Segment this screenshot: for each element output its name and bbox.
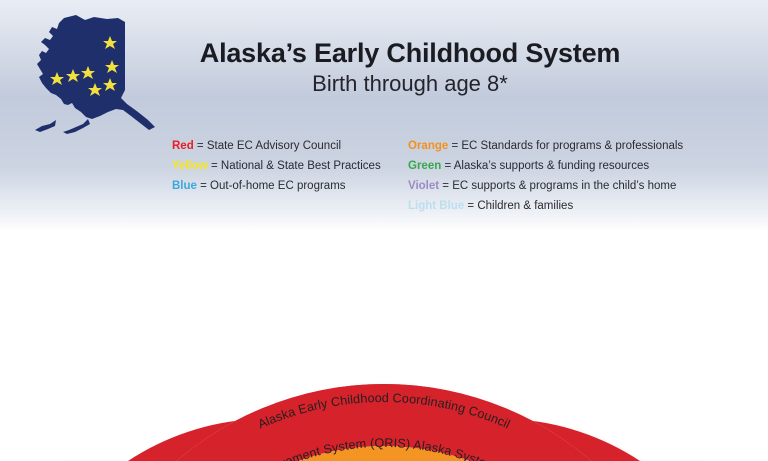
- legend-item-orange: Orange = EC Standards for programs & pro…: [408, 136, 738, 156]
- legend-key-light-blue: Light Blue: [408, 200, 464, 212]
- legend-desc-violet: = EC supports & programs in the child’s …: [439, 180, 676, 192]
- legend-item-red: Red = State EC Advisory Council: [172, 136, 407, 156]
- legend-item-blue: Blue = Out-of-home EC programs: [172, 176, 407, 196]
- legend-key-violet: Violet: [408, 180, 439, 192]
- legend-key-red: Red: [172, 140, 194, 152]
- legend-item-yellow: Yellow = National & State Best Practices: [172, 156, 407, 176]
- alaska-state-outline-with-big-dipper-stars-icon: [28, 12, 164, 134]
- alaska-southeast-panhandle-shape: [63, 119, 90, 134]
- legend-key-orange: Orange: [408, 140, 448, 152]
- legend-desc-blue: = Out-of-home EC programs: [197, 180, 346, 192]
- page-title: Alaska’s Early Childhood System Birth th…: [150, 38, 670, 98]
- legend-key-blue: Blue: [172, 180, 197, 192]
- legend-key-green: Green: [408, 160, 441, 172]
- legend-column-right: Orange = EC Standards for programs & pro…: [408, 136, 738, 216]
- legend-desc-yellow: = National & State Best Practices: [208, 160, 381, 172]
- concentric-arc-diagram: Alaska Early Childhood Coordinating Coun…: [0, 232, 768, 461]
- title-main: Alaska’s Early Childhood System: [150, 38, 670, 68]
- legend-desc-green: = Alaska’s supports & funding resources: [441, 160, 649, 172]
- legend-desc-red: = State EC Advisory Council: [194, 140, 341, 152]
- legend: Red = State EC Advisory Council Yellow =…: [0, 136, 768, 226]
- legend-item-light-blue: Light Blue = Children & families: [408, 196, 738, 216]
- legend-column-left: Red = State EC Advisory Council Yellow =…: [172, 136, 407, 196]
- legend-desc-orange: = EC Standards for programs & profession…: [448, 140, 683, 152]
- infographic-page: Alaska’s Early Childhood System Birth th…: [0, 0, 768, 461]
- legend-key-yellow: Yellow: [172, 160, 208, 172]
- title-subtitle: Birth through age 8*: [150, 71, 670, 97]
- legend-item-violet: Violet = EC supports & programs in the c…: [408, 176, 738, 196]
- legend-desc-light-blue: = Children & families: [464, 200, 573, 212]
- header-band: Alaska’s Early Childhood System Birth th…: [0, 0, 768, 232]
- alaska-aleutian-tail-shape: [35, 120, 56, 132]
- alaska-landmass-shape: [37, 15, 155, 130]
- legend-item-green: Green = Alaska’s supports & funding reso…: [408, 156, 738, 176]
